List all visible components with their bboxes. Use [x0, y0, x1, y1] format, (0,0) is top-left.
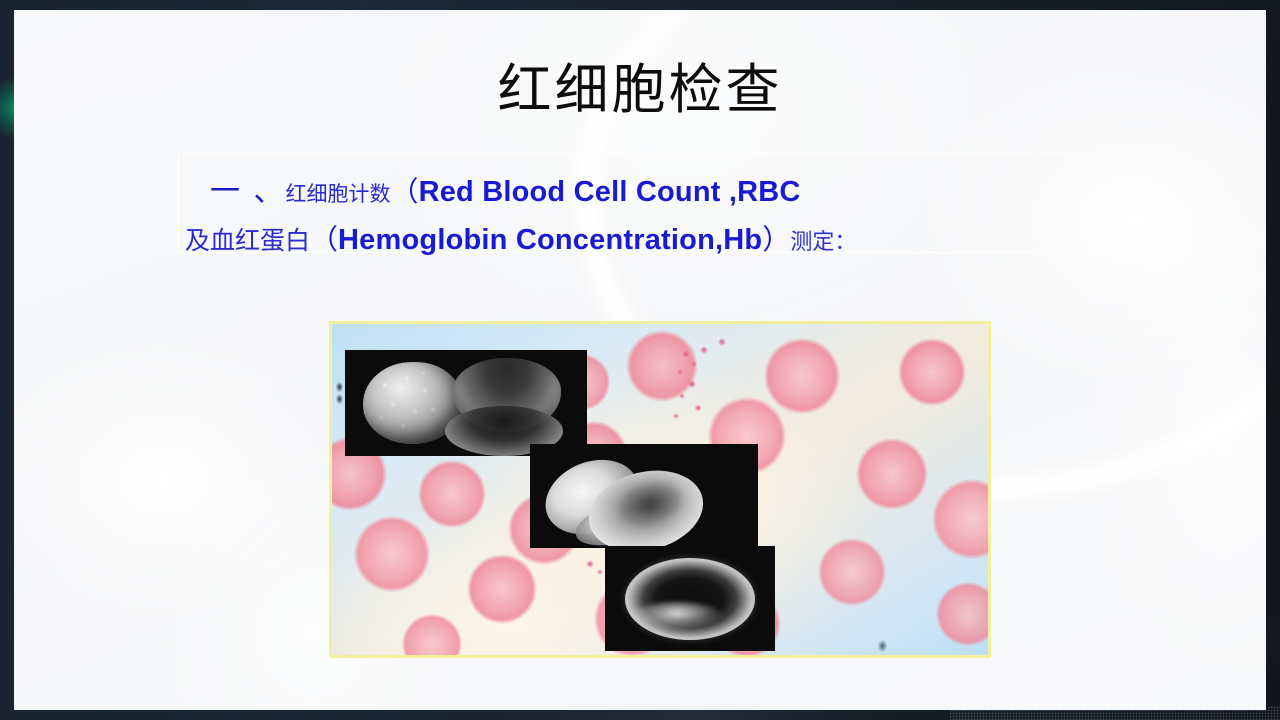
subtitle-line-2: 及血红蛋白（Hemoglobin Concentration,Hb）测定： [185, 218, 1140, 266]
section-marker: 一 、 [210, 174, 286, 209]
erythrocyte-rim-highlight [631, 602, 723, 630]
subtitle-block: 一 、红细胞计数（Red Blood Cell Count ,RBC 及血红蛋白… [210, 170, 1140, 266]
slide-title: 红细胞检查 [14, 58, 1266, 122]
subtitle-cn-label-2: 及血红蛋白 [185, 226, 310, 255]
paren-open-2: （ [310, 223, 338, 256]
subtitle-tail: 测定： [790, 230, 856, 255]
paren-open-1: （ [391, 175, 419, 208]
subtitle-line-1: 一 、红细胞计数（Red Blood Cell Count ,RBC [210, 170, 1140, 218]
sem-inset-single-erythrocyte [605, 546, 775, 651]
subtitle-cn-label-1: 红细胞计数 [286, 182, 391, 206]
blood-smear-figure [329, 321, 991, 658]
figure-artifact-speck [336, 394, 343, 404]
figure-artifact-speck [336, 382, 343, 392]
slide-canvas: 红细胞检查 一 、红细胞计数（Red Blood Cell Count ,RBC… [14, 10, 1266, 710]
figure-artifact-speck [878, 640, 887, 652]
subtitle-en-term-1: Red Blood Cell Count ,RBC [419, 176, 801, 208]
subtitle-en-term-2: Hemoglobin Concentration,Hb [338, 224, 762, 256]
paren-close-2: ） [762, 223, 790, 256]
sem-inset-two-discocytes [530, 444, 758, 548]
sem-inset-crenated-and-biconcave [345, 350, 587, 456]
